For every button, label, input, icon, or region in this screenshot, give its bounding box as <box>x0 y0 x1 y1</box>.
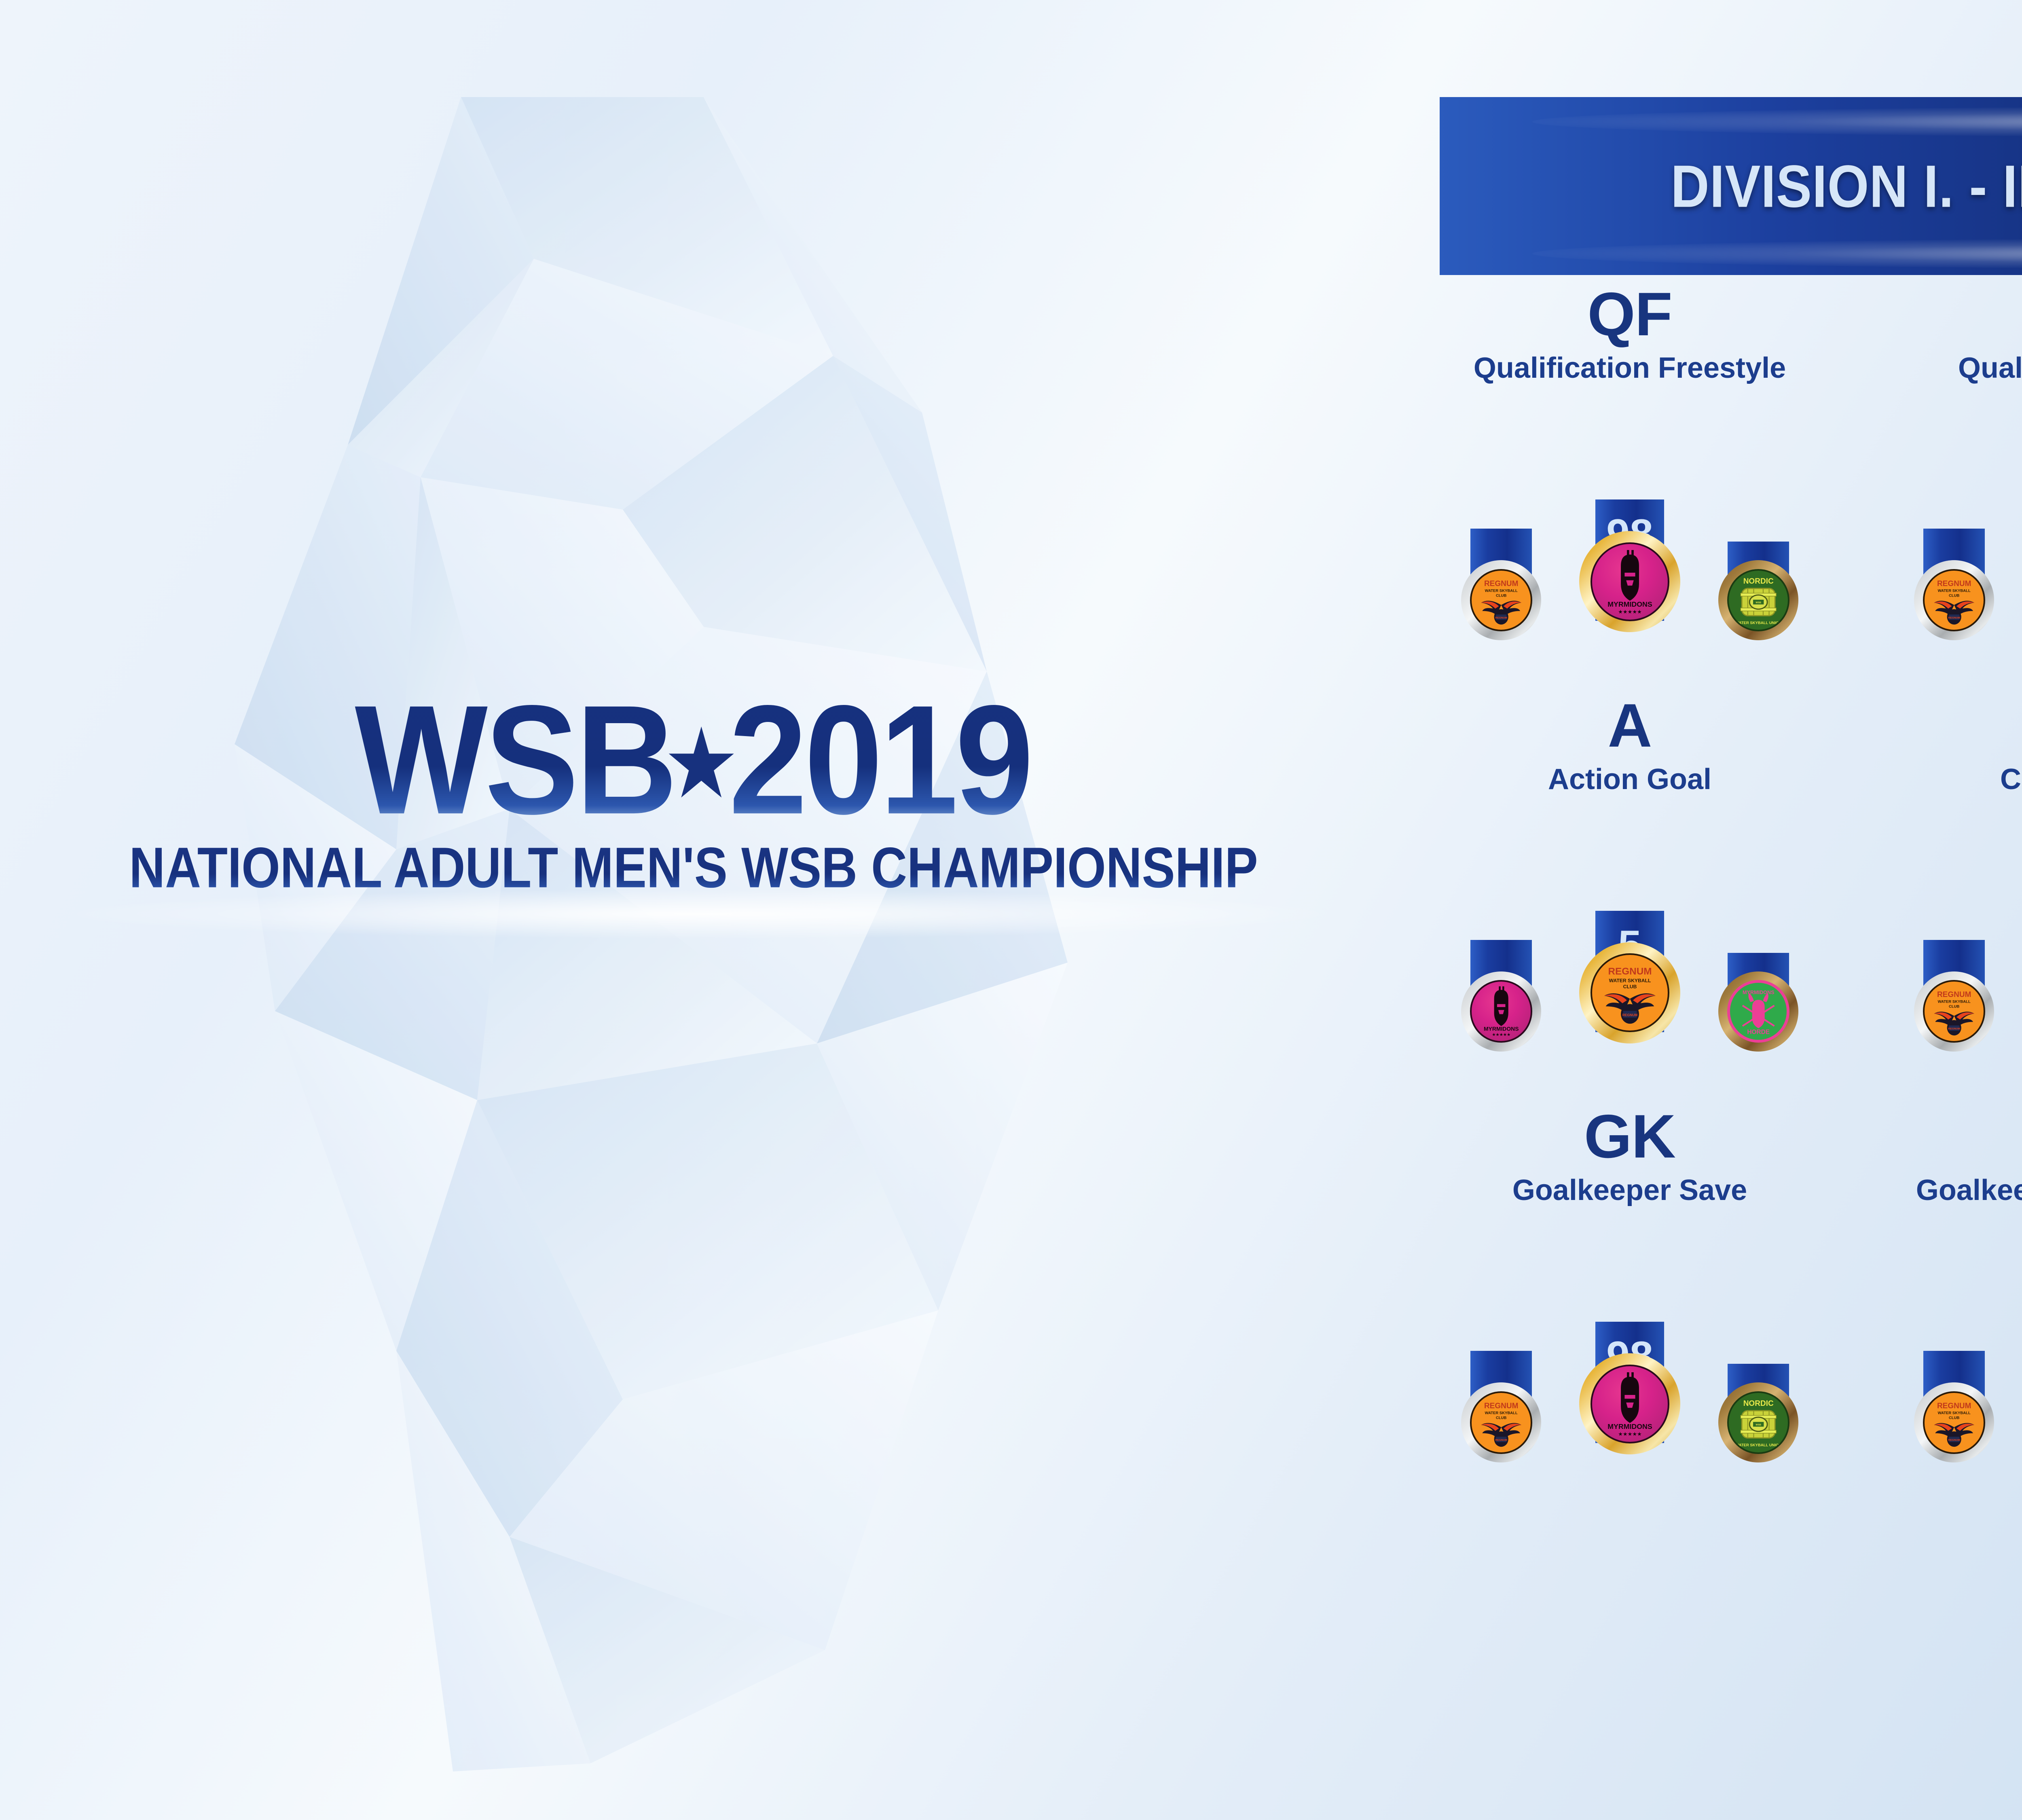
podium-slot-gold: 98 MYRMIDONS ★★★★★ <box>1580 1322 1680 1443</box>
medal-bronze[interactable]: MYRMIDONS HORDE <box>1718 971 1798 1052</box>
medal-ring-silver: REGNUM WATER SKYBALL CLUB REGNUM <box>1914 560 1994 640</box>
player-of-the-year: Mr. Skyball: 98 MYRMIDONS ★★★★★ (Player … <box>1403 1545 2022 1707</box>
player-of-year-caption: (Player of the year) <box>1403 1674 2022 1708</box>
event-code: QF <box>1587 283 1672 346</box>
medal-ring-bronze: NORDIC WSB WATER SKYBALL UNION <box>1718 1382 1798 1462</box>
medal-gold[interactable]: REGNUM WATER SKYBALL CLUB REGNUM <box>1579 942 1680 1043</box>
svg-text:WATER SKYBALL UNION: WATER SKYBALL UNION <box>1735 1443 1781 1448</box>
medal-ring-gold: MYRMIDONS ★★★★★ <box>1579 531 1680 632</box>
svg-text:CLUB: CLUB <box>1949 593 1960 598</box>
svg-text:REGNUM: REGNUM <box>1948 1028 1960 1031</box>
svg-text:NORDIC: NORDIC <box>1743 1399 1773 1408</box>
team-badge-regnum: REGNUM WATER SKYBALL CLUB REGNUM <box>1923 1391 1985 1454</box>
svg-text:WSB: WSB <box>1756 1424 1761 1426</box>
podium-slot-gold: 98 MYRMIDONS ★★★★★ <box>1580 499 1680 621</box>
medal-ring-silver: REGNUM WATER SKYBALL CLUB REGNUM <box>1914 971 1994 1052</box>
svg-text:REGNUM: REGNUM <box>1622 1013 1637 1017</box>
svg-text:REGNUM: REGNUM <box>1484 580 1519 588</box>
podium-slot-bronze: 44 NORDIC WSB WATER SKYBA <box>1708 1364 1808 1443</box>
svg-text:WATER SKYBALL: WATER SKYBALL <box>1937 1000 1970 1004</box>
logo-wsb-text: WSB <box>355 688 675 831</box>
podium: 8 MYRMIDONS ★★★★★ 5 REGNUM W <box>1448 806 1812 1032</box>
podium-slot-bronze: 21 MYRMIDONS HORDE <box>1708 953 1808 1032</box>
podium-slot-silver: 16 REGNUM WATER SKYBALL CLUB REGNUM <box>1451 1351 1551 1443</box>
svg-text:REGNUM: REGNUM <box>1948 1439 1960 1442</box>
brand-subtitle: NATIONAL ADULT MEN'S WSB CHAMPIONSHIP <box>0 834 1387 900</box>
medal-ring-silver: REGNUM WATER SKYBALL CLUB REGNUM <box>1461 560 1541 640</box>
podium-slot-bronze: 14 NORDIC WSB WATER SKYBA <box>1708 542 1808 621</box>
team-badge-regnum: REGNUM WATER SKYBALL CLUB REGNUM <box>1923 569 1985 631</box>
svg-text:REGNUM: REGNUM <box>1937 1402 1971 1410</box>
event-card-gk[interactable]: GK Goalkeeper Save 16 REGNUM WATER SKYBA… <box>1403 1105 1856 1517</box>
team-badge-myrmidons: MYRMIDONS ★★★★★ <box>1591 1365 1669 1443</box>
svg-text:REGNUM: REGNUM <box>1484 1402 1519 1410</box>
svg-text:MYRMIDONS: MYRMIDONS <box>1743 990 1775 996</box>
medal-bronze[interactable]: NORDIC WSB WATER SKYBALL UNION <box>1718 1382 1798 1462</box>
svg-text:★★★★★: ★★★★★ <box>1492 1033 1510 1037</box>
medal-ring-silver: REGNUM WATER SKYBALL CLUB REGNUM <box>1461 1382 1541 1462</box>
podium: 5 REGNUM WATER SKYBALL CLUB REGNUM <box>1901 806 2022 1032</box>
event-code: A <box>1608 694 1652 757</box>
team-badge-horde: MYRMIDONS HORDE <box>1727 980 1789 1042</box>
event-code: GK <box>1584 1105 1675 1168</box>
team-badge-regnum: REGNUM WATER SKYBALL CLUB REGNUM <box>1470 569 1532 631</box>
achievements-grid: QF Qualification Freestyle 16 REGNUM WAT… <box>1403 283 2022 1517</box>
podium: 16 REGNUM WATER SKYBALL CLUB REGNUM <box>1448 1217 1812 1443</box>
polygon-watermark <box>226 49 1076 1771</box>
svg-text:CLUB: CLUB <box>1496 593 1507 598</box>
team-badge-myrmidons: MYRMIDONS ★★★★★ <box>1591 542 1669 621</box>
event-name: Center Goal <box>2000 763 2022 796</box>
section-banner: DIVISION I. - INDIVIDUAL ACHIEVEMENTS <box>1440 97 2022 275</box>
medal-ring-silver: MYRMIDONS ★★★★★ <box>1461 971 1541 1052</box>
event-name: Goalkeeper Save <box>1512 1174 1747 1207</box>
svg-text:REGNUM: REGNUM <box>1608 966 1652 977</box>
podium-slot-silver: 5 REGNUM WATER SKYBALL CLUB REGNUM <box>1904 940 2004 1032</box>
event-name: Qualification Shot <box>1958 351 2022 385</box>
svg-text:CLUB: CLUB <box>1623 984 1637 989</box>
podium: 3 REGNUM WATER SKYBALL CLUB REGNUM <box>1901 1217 2022 1443</box>
event-card-gki[interactable]: GKI Goalkeeper Interception 3 REGNUM WAT… <box>1856 1105 2022 1517</box>
star-icon: ★ <box>663 707 739 821</box>
event-card-c[interactable]: C Center Goal 5 REGNUM WATER SKYBALL CLU… <box>1856 694 2022 1106</box>
svg-text:WATER SKYBALL: WATER SKYBALL <box>1937 1411 1970 1416</box>
svg-text:MYRMIDONS: MYRMIDONS <box>1607 600 1652 608</box>
medal-ring-bronze: NORDIC WSB WATER SKYBALL UNION <box>1718 560 1798 640</box>
svg-text:REGNUM: REGNUM <box>1495 1439 1507 1442</box>
logo-year-text: 2019 <box>729 688 1031 831</box>
podium-slot-silver: 3 REGNUM WATER SKYBALL CLUB REGNUM <box>1904 1351 2004 1443</box>
podium: 16 REGNUM WATER SKYBALL CLUB REGNUM <box>1448 394 1812 621</box>
svg-text:WATER SKYBALL: WATER SKYBALL <box>1937 589 1970 593</box>
medal-ring-gold: MYRMIDONS ★★★★★ <box>1579 1353 1680 1454</box>
event-name: Qualification Freestyle <box>1474 351 1786 385</box>
brand-logo: WSB★2019 NATIONAL ADULT MEN'S WSB CHAMPI… <box>0 704 1387 895</box>
event-name: Action Goal <box>1548 763 1711 796</box>
medal-bronze[interactable]: NORDIC WSB WATER SKYBALL UNION <box>1718 560 1798 640</box>
medal-gold[interactable]: MYRMIDONS ★★★★★ <box>1579 531 1680 632</box>
podium: 5 REGNUM WATER SKYBALL CLUB REGNUM <box>1901 394 2022 621</box>
svg-text:WATER SKYBALL: WATER SKYBALL <box>1485 1411 1517 1416</box>
medal-silver[interactable]: REGNUM WATER SKYBALL CLUB REGNUM <box>1461 560 1541 640</box>
svg-text:WATER SKYBALL: WATER SKYBALL <box>1609 978 1651 984</box>
medal-silver[interactable]: REGNUM WATER SKYBALL CLUB REGNUM <box>1914 1382 1994 1462</box>
team-badge-regnum: REGNUM WATER SKYBALL CLUB REGNUM <box>1923 980 1985 1042</box>
medal-gold[interactable]: MYRMIDONS ★★★★★ <box>1579 1353 1680 1454</box>
svg-text:WSB: WSB <box>1756 601 1761 604</box>
podium-slot-silver: 5 REGNUM WATER SKYBALL CLUB REGNUM <box>1904 529 2004 621</box>
podium-slot-silver: 16 REGNUM WATER SKYBALL CLUB REGNUM <box>1451 529 1551 621</box>
event-card-a[interactable]: A Action Goal 8 MYRMIDONS ★★★★★ 5 <box>1403 694 1856 1106</box>
svg-text:HORDE: HORDE <box>1747 1029 1770 1036</box>
medal-ring-gold: REGNUM WATER SKYBALL CLUB REGNUM <box>1579 942 1680 1043</box>
svg-text:REGNUM: REGNUM <box>1495 616 1507 619</box>
svg-text:NORDIC: NORDIC <box>1743 577 1773 586</box>
event-name: Goalkeeper Interception <box>1916 1174 2022 1207</box>
medal-ring-silver: REGNUM WATER SKYBALL CLUB REGNUM <box>1914 1382 1994 1462</box>
svg-text:REGNUM: REGNUM <box>1937 991 1971 999</box>
svg-text:★★★★★: ★★★★★ <box>1618 1431 1642 1437</box>
event-card-qs[interactable]: QS Qualification Shot 5 REGNUM WATER SKY… <box>1856 283 2022 694</box>
team-badge-regnum: REGNUM WATER SKYBALL CLUB REGNUM <box>1591 953 1669 1032</box>
svg-text:WATER SKYBALL UNION: WATER SKYBALL UNION <box>1735 621 1781 625</box>
podium-slot-gold: 5 REGNUM WATER SKYBALL CLUB REGNUM <box>1580 911 1680 1032</box>
medal-silver[interactable]: REGNUM WATER SKYBALL CLUB REGNUM <box>1461 1382 1541 1462</box>
svg-text:WATER SKYBALL: WATER SKYBALL <box>1485 589 1517 593</box>
svg-text:★★★★★: ★★★★★ <box>1618 609 1642 615</box>
event-card-qf[interactable]: QF Qualification Freestyle 16 REGNUM WAT… <box>1403 283 1856 694</box>
hero-panel: WSB★2019 NATIONAL ADULT MEN'S WSB CHAMPI… <box>0 0 1387 1820</box>
svg-text:REGNUM: REGNUM <box>1937 580 1971 588</box>
team-badge-regnum: REGNUM WATER SKYBALL CLUB REGNUM <box>1470 1391 1532 1454</box>
svg-text:CLUB: CLUB <box>1949 1416 1960 1420</box>
svg-text:MYRMIDONS: MYRMIDONS <box>1484 1026 1519 1032</box>
medal-ring-bronze: MYRMIDONS HORDE <box>1718 971 1798 1052</box>
medal-silver[interactable]: REGNUM WATER SKYBALL CLUB REGNUM <box>1914 971 1994 1052</box>
svg-text:MYRMIDONS: MYRMIDONS <box>1607 1422 1652 1431</box>
podium-slot-silver: 8 MYRMIDONS ★★★★★ <box>1451 940 1551 1032</box>
team-badge-myrmidons: MYRMIDONS ★★★★★ <box>1470 980 1532 1042</box>
team-badge-nordic: NORDIC WSB WATER SKYBALL UNION <box>1727 1391 1789 1454</box>
team-badge-nordic: NORDIC WSB WATER SKYBALL UNION <box>1727 569 1789 631</box>
svg-text:REGNUM: REGNUM <box>1948 616 1960 619</box>
medal-silver[interactable]: REGNUM WATER SKYBALL CLUB REGNUM <box>1914 560 1994 640</box>
medal-silver[interactable]: MYRMIDONS ★★★★★ <box>1461 971 1541 1052</box>
banner-title: DIVISION I. - INDIVIDUAL ACHIEVEMENTS <box>1440 97 2022 275</box>
svg-text:CLUB: CLUB <box>1949 1005 1960 1009</box>
svg-text:CLUB: CLUB <box>1496 1416 1507 1420</box>
